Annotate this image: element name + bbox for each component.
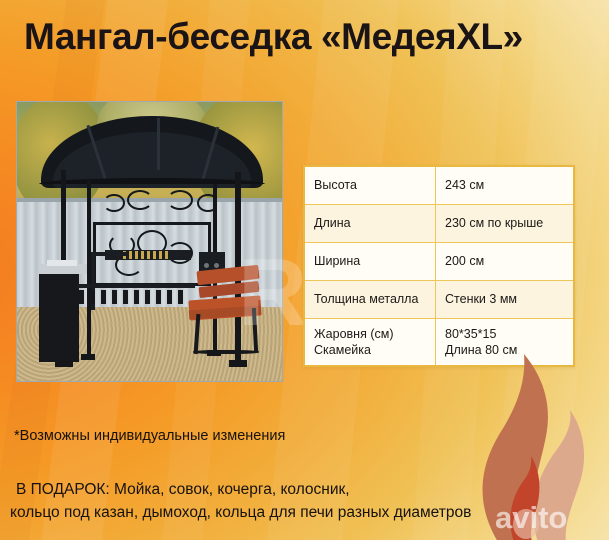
gift-line-1: В ПОДАРОК: Мойка, совок, кочерга, колосн… bbox=[16, 481, 350, 498]
gazebo-foot bbox=[81, 354, 95, 360]
gazebo-foot bbox=[229, 360, 247, 367]
gift-list: В ПОДАРОК: Мойка, совок, кочерга, колосн… bbox=[16, 478, 471, 524]
spec-value: 230 см по крыше bbox=[436, 205, 573, 242]
flame-glow bbox=[513, 509, 539, 539]
specifications-table: Высота 243 см Длина 230 см по крыше Шири… bbox=[303, 165, 575, 367]
gazebo-floor-grate bbox=[79, 290, 189, 304]
gazebo-scroll-ornament bbox=[103, 194, 125, 212]
table-row: Толщина металла Стенки 3 мм bbox=[305, 281, 573, 319]
spec-key: Длина bbox=[305, 205, 436, 242]
grill-knob bbox=[204, 263, 209, 268]
gazebo-roof-seam bbox=[157, 118, 160, 170]
table-row: Длина 230 см по крыше bbox=[305, 205, 573, 243]
spec-key: Высота bbox=[305, 167, 436, 204]
spec-value: Стенки 3 мм bbox=[436, 281, 573, 318]
gazebo-scroll-ornament bbox=[127, 190, 153, 210]
spec-key: Ширина bbox=[305, 243, 436, 280]
spec-key: Толщина металла bbox=[305, 281, 436, 318]
gazebo-rail bbox=[77, 284, 195, 288]
page-title: Мангал-беседка «МедеяXL» bbox=[24, 13, 594, 61]
table-row: Высота 243 см bbox=[305, 167, 573, 205]
grill-knob bbox=[214, 263, 219, 268]
gazebo-rail bbox=[91, 252, 129, 256]
spec-value: 243 см bbox=[436, 167, 573, 204]
gazebo-foot bbox=[207, 350, 221, 356]
gazebo-scroll-ornament bbox=[167, 190, 193, 210]
gift-line-2: кольцо под казан, дымоход, кольца для пе… bbox=[10, 501, 471, 524]
bench-foot bbox=[193, 350, 259, 354]
product-photo bbox=[16, 101, 283, 382]
spec-value: 200 см bbox=[436, 243, 573, 280]
grill-shelf bbox=[47, 260, 77, 266]
grill-body bbox=[39, 274, 79, 362]
custom-changes-note: *Возможны индивидуальные изменения bbox=[14, 428, 285, 444]
gazebo-roof-edge bbox=[39, 178, 265, 184]
table-row: Ширина 200 см bbox=[305, 243, 573, 281]
gazebo-foot bbox=[55, 360, 73, 367]
grill-decor bbox=[123, 251, 171, 259]
spec-key: Жаровня (см) Скамейка bbox=[305, 319, 436, 365]
